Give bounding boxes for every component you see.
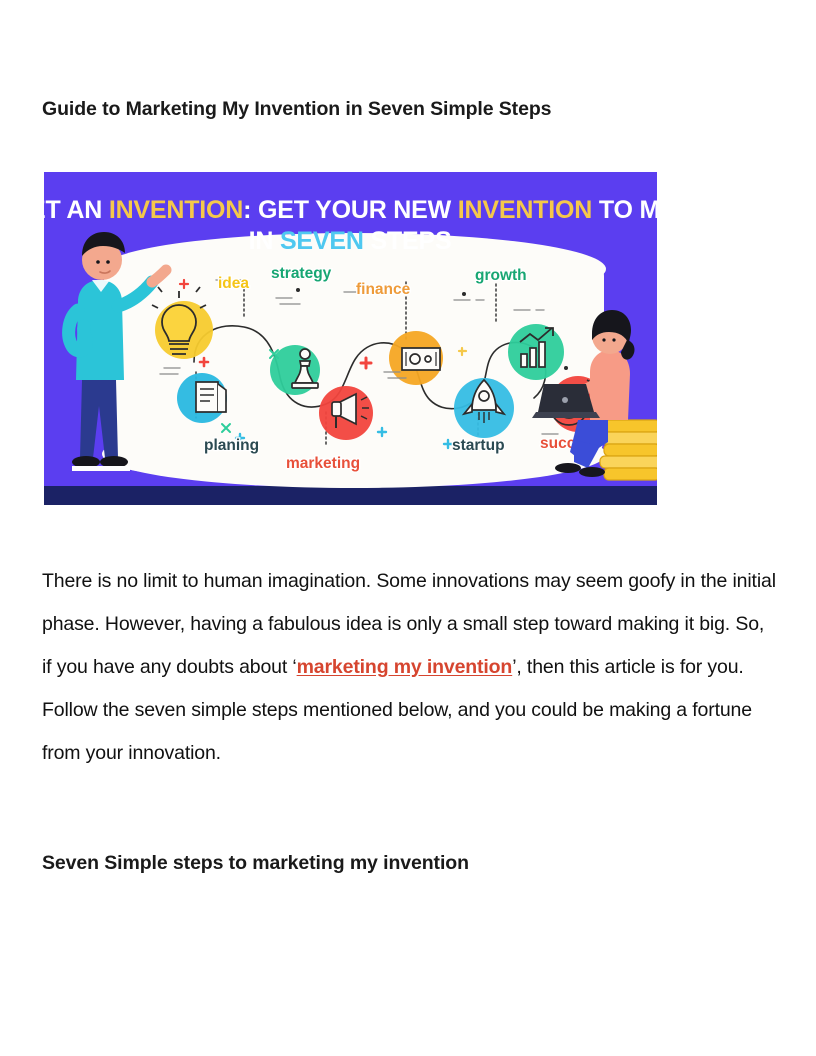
- banner-l2-p1: IN: [249, 227, 280, 255]
- document-icon: [196, 382, 226, 412]
- money-icon: [402, 348, 440, 370]
- banner-l1-h1: INVENTION: [109, 196, 243, 224]
- step-label-idea: idea: [218, 275, 249, 292]
- document-page: MARKET AN INVENTION: GET YOUR NEW INVENT…: [0, 0, 816, 1056]
- intro-paragraph: There is no limit to human imagination. …: [42, 560, 777, 775]
- step-label-finance: finance: [356, 281, 411, 298]
- banner-l1-p2: : GET YOUR NEW: [243, 196, 458, 224]
- body-text-block: There is no limit to human imagination. …: [42, 560, 782, 775]
- step-label-growth: growth: [475, 267, 527, 284]
- coin-stack: [600, 420, 657, 480]
- step-label-planing: planing: [204, 437, 259, 454]
- marketing-my-invention-link[interactable]: marketing my invention: [297, 656, 513, 678]
- infographic-image: MARKET AN INVENTION: GET YOUR NEW INVENT…: [44, 172, 657, 505]
- page-title: Guide to Marketing My Invention in Seven…: [42, 96, 774, 122]
- banner-l1-p3: TO MARKET: [592, 196, 657, 224]
- subheading-block: Seven Simple steps to marketing my inven…: [42, 850, 782, 876]
- step-label-startup: startup: [452, 437, 505, 454]
- figure-footer-band: [44, 486, 657, 505]
- banner-l1-p1: MARKET AN: [44, 196, 109, 224]
- banner-l2-p2: STEPS: [364, 227, 452, 255]
- infographic-svg: MARKET AN INVENTION: GET YOUR NEW INVENT…: [44, 172, 657, 505]
- document-content: Guide to Marketing My Invention in Seven…: [42, 96, 774, 122]
- banner-title-line2: IN SEVEN STEPS: [249, 227, 452, 255]
- step-label-marketing: marketing: [286, 455, 360, 472]
- banner-title-line1: MARKET AN INVENTION: GET YOUR NEW INVENT…: [44, 196, 657, 224]
- section-subheading: Seven Simple steps to marketing my inven…: [42, 850, 782, 876]
- banner-l2-h: SEVEN: [280, 227, 364, 255]
- banner-l1-h2: INVENTION: [458, 196, 592, 224]
- step-label-strategy: strategy: [271, 265, 332, 282]
